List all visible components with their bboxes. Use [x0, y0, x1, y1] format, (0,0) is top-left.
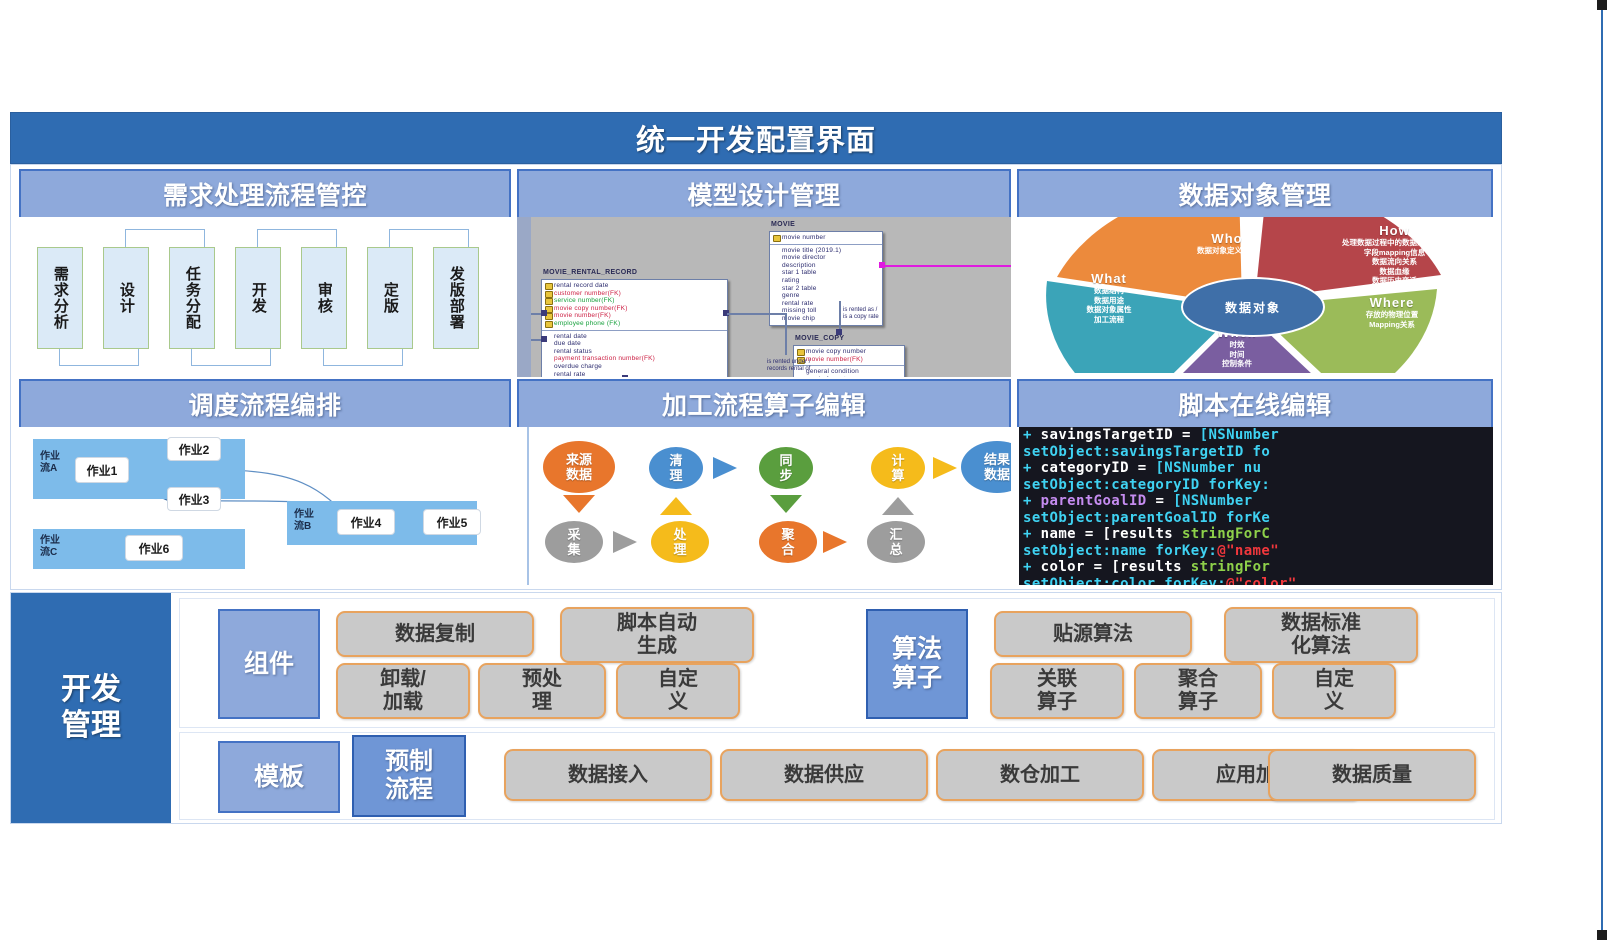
operator-sync[interactable]: 同步 — [759, 447, 813, 489]
panel-requirement-body: 需求分析 设计 任务分配 开发 审核 定版 发版部署 — [19, 217, 511, 377]
code-line: + name = [results stringForC — [1019, 526, 1493, 543]
er-rel-label-2: is rented under /records rental of — [767, 359, 810, 373]
page-title-bar: 统一开发配置界面 — [10, 112, 1502, 164]
er-rel-magenta — [883, 265, 1011, 267]
group-algorithm-operators: 算法算子 贴源算法 数据标准化算法 关联算子 聚合算子 自定义 — [856, 599, 1488, 727]
panel-script-header: 脚本在线编辑 — [1017, 379, 1493, 429]
operator-clean[interactable]: 清理 — [649, 447, 703, 489]
chip-data-supply[interactable]: 数据供应 — [720, 749, 928, 801]
panel-row-1: 需求处理流程管控 需求分析 设计 任务分配 — [11, 169, 1501, 377]
flow-connector-down-1 — [59, 347, 139, 366]
flow-step-3[interactable]: 开发 — [235, 247, 281, 349]
dev-management-sidebar[interactable]: 开发管理 — [11, 593, 171, 823]
panel-dataobject-title: 数据对象管理 — [1178, 176, 1331, 212]
operator-aggregate[interactable]: 聚合 — [759, 521, 817, 563]
flow-step-6[interactable]: 发版部署 — [433, 247, 479, 349]
job-node-5[interactable]: 作业5 — [423, 509, 481, 535]
operator-result-data[interactable]: 结果数据 — [961, 441, 1011, 493]
panel-dataobject[interactable]: 数据对象管理 — [1017, 169, 1493, 377]
requirement-flow-diagram: 需求分析 设计 任务分配 开发 审核 定版 发版部署 — [37, 221, 505, 375]
dev-management-container: 开发管理 组件 数据复制 脚本自动生成 卸载/加载 预处理 自定义 算法算子 贴… — [10, 592, 1502, 824]
panel-model-body: MOVIE_RENTAL_RECORD rental record date c… — [517, 217, 1011, 377]
er-rel-label-1: is rented as /is a copy rate — [843, 307, 879, 321]
job-node-1[interactable]: 作业1 — [75, 457, 129, 483]
er-table-columns: rental date due date rental status payme… — [542, 331, 727, 377]
chip-warehouse-processing[interactable]: 数仓加工 — [936, 749, 1144, 801]
operator-source-data[interactable]: 来源数据 — [543, 441, 615, 493]
panel-operator[interactable]: 加工流程算子编辑 来源数据 清理 同步 — [517, 379, 1011, 585]
code-line: setObject:color forKey:@"color" — [1019, 576, 1493, 586]
panel-schedule-body: 作业流A 作业1 作业2 作业3 作业流B 作业4 作业5 作业流C — [19, 427, 511, 585]
code-line: setObject:savingsTargetID fo — [1019, 444, 1493, 461]
category-template[interactable]: 模板 — [218, 741, 340, 813]
er-table-caption: MOVIE_COPY — [795, 335, 844, 342]
chip-join-operator[interactable]: 关联算子 — [990, 663, 1124, 719]
panel-dataobject-body: Who 数据对象定义信息 How 处理数据过程中的数据治理方法 字段mappin… — [1017, 217, 1493, 377]
er-table-keys: rental record date customer number(FK) s… — [542, 280, 727, 331]
chip-data-replication[interactable]: 数据复制 — [336, 611, 534, 657]
page-title: 统一开发配置界面 — [636, 117, 876, 159]
panel-operator-title: 加工流程算子编辑 — [662, 386, 866, 422]
panel-schedule-title: 调度流程编排 — [188, 386, 341, 422]
operator-summarize[interactable]: 汇总 — [867, 521, 925, 563]
job-node-4[interactable]: 作业4 — [337, 509, 395, 535]
code-line: + categoryID = [NSNumber nu — [1019, 460, 1493, 477]
code-line: + color = [results stringFor — [1019, 559, 1493, 576]
panel-requirement-title: 需求处理流程管控 — [163, 176, 367, 212]
er-rel-movie-copy-v — [839, 301, 841, 331]
er-dot-5 — [836, 329, 842, 335]
flow-step-4[interactable]: 审核 — [301, 247, 347, 349]
arrow-right-yellow-icon — [933, 457, 957, 479]
script-code-area[interactable]: + savingsTargetID = [NSNumbersetObject:s… — [1019, 427, 1493, 585]
dev-row-templates: 模板 预制流程 数据接入 数据供应 数仓加工 应用加工 数据质量 — [179, 732, 1495, 820]
arrow-right-gray-icon — [613, 531, 637, 553]
edge-marker-top-icon — [1597, 0, 1607, 10]
category-components[interactable]: 组件 — [218, 609, 320, 719]
dev-row-components: 组件 数据复制 脚本自动生成 卸载/加载 预处理 自定义 算法算子 贴源算法 数… — [179, 598, 1495, 728]
job-group-b-label: 作业流B — [294, 509, 314, 533]
flow-step-1[interactable]: 设计 — [103, 247, 149, 349]
chip-preprocess[interactable]: 预处理 — [478, 663, 606, 719]
arrow-down-green-icon — [770, 495, 802, 513]
panel-script-body: + savingsTargetID = [NSNumbersetObject:s… — [1017, 427, 1493, 585]
er-table-movie-rental-record[interactable]: MOVIE_RENTAL_RECORD rental record date c… — [541, 279, 728, 377]
data-object-wheel: Who 数据对象定义信息 How 处理数据过程中的数据治理方法 字段mappin… — [1017, 217, 1493, 377]
panel-script-title: 脚本在线编辑 — [1178, 386, 1331, 422]
flow-connector-down-2 — [191, 347, 271, 366]
er-left-band — [517, 217, 531, 377]
job-group-a-label: 作业流A — [40, 451, 60, 475]
panel-requirement[interactable]: 需求处理流程管控 需求分析 设计 任务分配 — [19, 169, 511, 377]
schedule-flow-diagram: 作业流A 作业1 作业2 作业3 作业流B 作业4 作业5 作业流C — [25, 429, 507, 583]
chip-script-auto-generate[interactable]: 脚本自动生成 — [560, 607, 754, 663]
panel-script[interactable]: 脚本在线编辑 + savingsTargetID = [NSNumbersetO… — [1017, 379, 1493, 585]
arrow-up-gray-icon — [882, 497, 914, 515]
code-line: setObject:categoryID forKey: — [1019, 477, 1493, 494]
panel-operator-header: 加工流程算子编辑 — [517, 379, 1011, 429]
panel-schedule-header: 调度流程编排 — [19, 379, 511, 429]
flow-step-2[interactable]: 任务分配 — [169, 247, 215, 349]
operator-process[interactable]: 处理 — [651, 521, 709, 563]
arrow-right-blue-icon — [713, 457, 737, 479]
er-table-columns: general condition movie format — [794, 366, 904, 377]
panel-operator-body: 来源数据 清理 同步 计算 结果数据 — [517, 427, 1011, 585]
chip-unload-load[interactable]: 卸载/加载 — [336, 663, 470, 719]
flow-step-5[interactable]: 定版 — [367, 247, 413, 349]
er-table-caption: MOVIE_RENTAL_RECORD — [543, 269, 637, 276]
operator-compute[interactable]: 计算 — [871, 447, 925, 489]
panel-requirement-header: 需求处理流程管控 — [19, 169, 511, 219]
chip-data-quality[interactable]: 数据质量 — [1268, 749, 1476, 801]
panel-schedule[interactable]: 调度流程编排 作业流A 作业1 — [19, 379, 511, 585]
operator-left-rail — [527, 427, 529, 585]
job-node-2[interactable]: 作业2 — [167, 437, 221, 461]
chip-source-algorithm[interactable]: 贴源算法 — [994, 611, 1192, 657]
er-dot-2 — [541, 336, 547, 342]
operator-collect[interactable]: 采集 — [545, 521, 603, 563]
edge-marker-bottom-icon — [1597, 930, 1607, 940]
page-right-edge — [1601, 0, 1611, 940]
job-group-c-label: 作业流C — [40, 535, 60, 559]
operator-flow-diagram: 来源数据 清理 同步 计算 结果数据 — [521, 427, 1011, 585]
category-preset-flow[interactable]: 预制流程 — [352, 735, 466, 817]
er-table-keys: movie number — [770, 232, 882, 245]
category-algorithm-operators[interactable]: 算法算子 — [866, 609, 968, 719]
er-dot-6 — [879, 262, 885, 268]
er-diagram: MOVIE_RENTAL_RECORD rental record date c… — [517, 217, 1011, 377]
chip-data-ingest[interactable]: 数据接入 — [504, 749, 712, 801]
er-dot-4 — [622, 375, 628, 377]
arrow-down-orange-icon — [563, 495, 595, 513]
chip-custom-operator[interactable]: 自定义 — [1272, 663, 1396, 719]
er-table-caption: MOVIE — [771, 221, 795, 228]
er-rel-mid-v — [785, 313, 787, 355]
job-node-6[interactable]: 作业6 — [125, 535, 183, 561]
wheel-center-label[interactable]: 数据对象 — [1181, 277, 1325, 337]
arrow-up-yellow-icon — [660, 497, 692, 515]
slide-root: 统一开发配置界面 需求处理流程管控 — [0, 0, 1611, 940]
panel-model-title: 模型设计管理 — [687, 176, 840, 212]
chip-custom-component[interactable]: 自定义 — [616, 663, 740, 719]
code-line: + parentGoalID = [NSNumber — [1019, 493, 1493, 510]
group-components: 组件 数据复制 脚本自动生成 卸载/加载 预处理 自定义 — [188, 599, 848, 727]
panel-model-header: 模型设计管理 — [517, 169, 1011, 219]
er-rel-mid — [727, 313, 787, 315]
code-line: setObject:parentGoalID forKe — [1019, 510, 1493, 527]
flow-connector-down-3 — [323, 347, 403, 366]
code-line: + savingsTargetID = [NSNumber — [1019, 427, 1493, 444]
dev-management-title: 开发管理 — [61, 672, 121, 744]
flow-step-0[interactable]: 需求分析 — [37, 247, 83, 349]
panel-model[interactable]: 模型设计管理 MOVIE_RENTAL_RECORD rental record… — [517, 169, 1011, 377]
panel-row-2: 调度流程编排 作业流A 作业1 — [11, 379, 1501, 585]
job-node-3[interactable]: 作业3 — [167, 487, 221, 511]
er-dot-1 — [541, 310, 547, 316]
code-line: setObject:name forKey:@"name" — [1019, 543, 1493, 560]
panel-dataobject-header: 数据对象管理 — [1017, 169, 1493, 219]
arrow-right-orange-icon — [823, 531, 847, 553]
panels-container: 需求处理流程管控 需求分析 设计 任务分配 — [10, 164, 1502, 590]
chip-data-standardization-algorithm[interactable]: 数据标准化算法 — [1224, 607, 1418, 663]
chip-aggregate-operator[interactable]: 聚合算子 — [1134, 663, 1262, 719]
er-table-keys: movie copy number movie number(FK) — [794, 346, 904, 366]
